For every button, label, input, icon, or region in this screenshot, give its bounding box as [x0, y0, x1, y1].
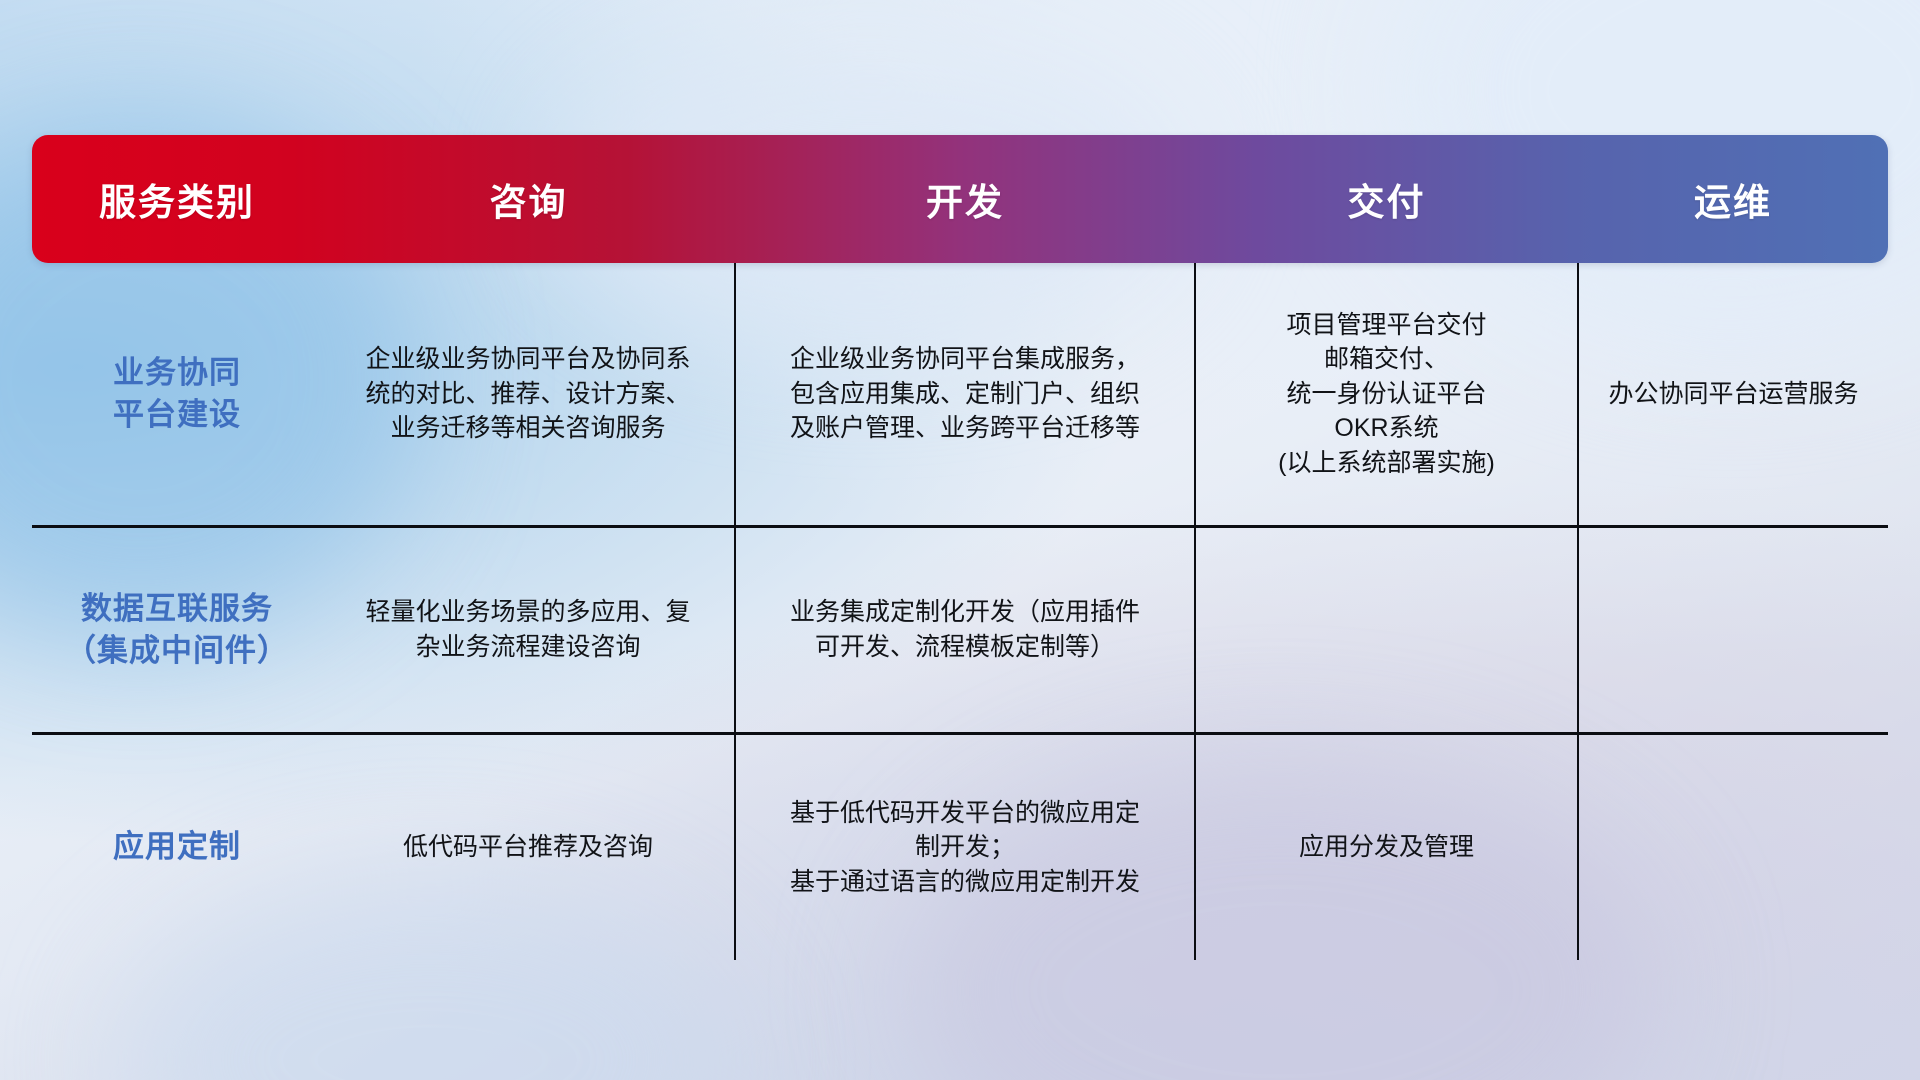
cell-text: 低代码平台推荐及咨询	[336, 830, 720, 865]
cell-development: 业务集成定制化开发（应用插件 可开发、流程模板定制等）	[735, 526, 1195, 733]
cell-text: 企业级业务协同平台集成服务， 包含应用集成、定制门户、组织 及账户管理、业务跨平…	[750, 342, 1180, 446]
cell-delivery: 应用分发及管理	[1195, 733, 1578, 960]
cell-delivery: 项目管理平台交付 邮箱交付、 统一身份认证平台 OKR系统 (以上系统部署实施)	[1195, 263, 1578, 526]
cell-consulting: 企业级业务协同平台及协同系 统的对比、推荐、设计方案、 业务迁移等相关咨询服务	[322, 263, 735, 526]
cell-text: 办公协同平台运营服务	[1593, 377, 1874, 412]
header-cell-operations: 运维	[1578, 135, 1888, 263]
service-matrix-table: 服务类别 咨询 开发 交付 运维 业务协同 平台建设 企业级业务协同平台及协同系…	[32, 135, 1888, 960]
header-cell-consulting: 咨询	[322, 135, 735, 263]
cell-text: 业务集成定制化开发（应用插件 可开发、流程模板定制等）	[750, 595, 1180, 664]
table-row: 应用定制 低代码平台推荐及咨询 基于低代码开发平台的微应用定 制开发； 基于通过…	[32, 733, 1888, 960]
table-header-row: 服务类别 咨询 开发 交付 运维	[32, 135, 1888, 263]
cell-operations	[1578, 733, 1888, 960]
header-cell-development: 开发	[735, 135, 1195, 263]
table-row: 业务协同 平台建设 企业级业务协同平台及协同系 统的对比、推荐、设计方案、 业务…	[32, 263, 1888, 526]
row-category-label: 数据互联服务 （集成中间件）	[32, 526, 322, 733]
cell-operations	[1578, 526, 1888, 733]
table-body: 业务协同 平台建设 企业级业务协同平台及协同系 统的对比、推荐、设计方案、 业务…	[32, 263, 1888, 960]
cell-text: 基于低代码开发平台的微应用定 制开发； 基于通过语言的微应用定制开发	[750, 796, 1180, 900]
header-cell-category: 服务类别	[32, 135, 322, 263]
cell-text: 企业级业务协同平台及协同系 统的对比、推荐、设计方案、 业务迁移等相关咨询服务	[336, 342, 720, 446]
cell-text: 轻量化业务场景的多应用、复 杂业务流程建设咨询	[336, 595, 720, 664]
table-row: 数据互联服务 （集成中间件） 轻量化业务场景的多应用、复 杂业务流程建设咨询 业…	[32, 526, 1888, 733]
row-category-label: 业务协同 平台建设	[32, 263, 322, 526]
cell-delivery	[1195, 526, 1578, 733]
cell-development: 基于低代码开发平台的微应用定 制开发； 基于通过语言的微应用定制开发	[735, 733, 1195, 960]
cell-text: 项目管理平台交付 邮箱交付、 统一身份认证平台 OKR系统 (以上系统部署实施)	[1210, 308, 1563, 481]
cell-text: 应用分发及管理	[1210, 830, 1563, 865]
cell-consulting: 低代码平台推荐及咨询	[322, 733, 735, 960]
cell-development: 企业级业务协同平台集成服务， 包含应用集成、定制门户、组织 及账户管理、业务跨平…	[735, 263, 1195, 526]
cell-consulting: 轻量化业务场景的多应用、复 杂业务流程建设咨询	[322, 526, 735, 733]
header-cell-delivery: 交付	[1195, 135, 1578, 263]
row-category-label: 应用定制	[32, 733, 322, 960]
cell-operations: 办公协同平台运营服务	[1578, 263, 1888, 526]
